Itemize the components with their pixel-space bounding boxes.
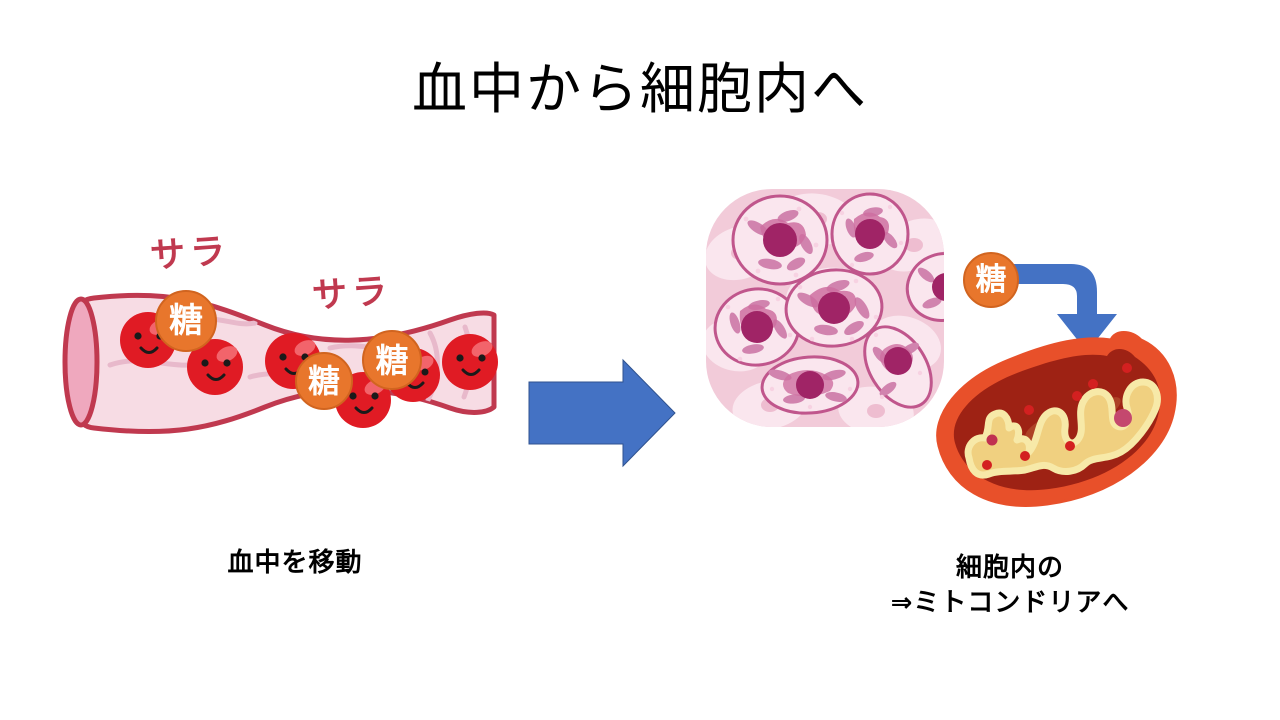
sugar-badge: 糖: [295, 352, 353, 410]
caption-right-line2: ⇒ミトコンドリアへ: [855, 585, 1165, 620]
caption-right: 細胞内の ⇒ミトコンドリアへ: [855, 550, 1165, 620]
slide-canvas: 血中から細胞内へ: [0, 0, 1280, 720]
blood-vessel-illustration: サラ サラ: [50, 215, 520, 455]
sugar-badge: 糖: [963, 252, 1019, 308]
mitochondrion-illustration: [925, 318, 1195, 528]
sugar-badge: 糖: [362, 330, 422, 390]
cell-tissue-illustration: [700, 183, 950, 433]
blood-vessel-graphic: [50, 215, 520, 455]
caption-right-line1: 細胞内の: [855, 550, 1165, 585]
page-title: 血中から細胞内へ: [0, 44, 1280, 124]
sugar-badge: 糖: [155, 290, 217, 352]
vessel-cross-section: [65, 299, 97, 425]
onomatopoeia-sara-1: サラ: [148, 222, 231, 278]
cell: [733, 196, 827, 284]
right-block-arrow-icon: [527, 358, 677, 468]
red-blood-cell: [442, 334, 498, 390]
onomatopoeia-sara-2: サラ: [310, 262, 393, 318]
cell: [832, 194, 908, 274]
caption-left: 血中を移動: [145, 545, 445, 580]
